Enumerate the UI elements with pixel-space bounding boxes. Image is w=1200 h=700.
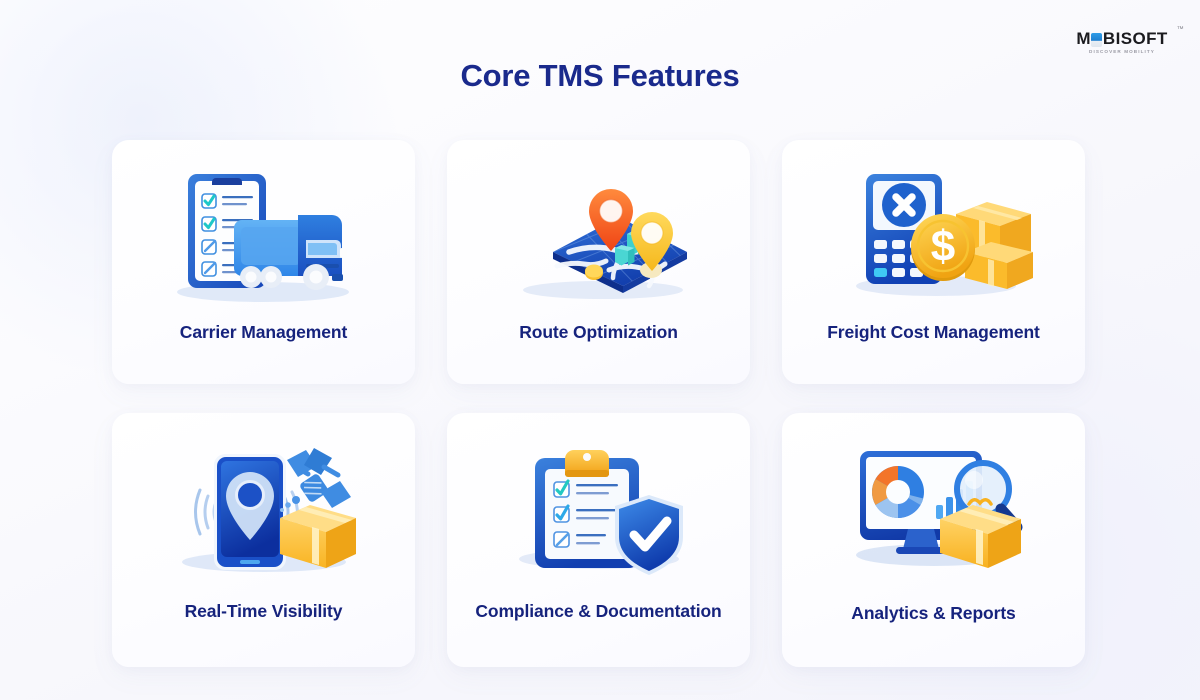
feature-card-label: Compliance & Documentation <box>475 601 721 667</box>
clipboard-shield-check-icon <box>491 434 706 589</box>
svg-text:$: $ <box>931 222 955 271</box>
trademark-icon: ™ <box>1177 26 1184 33</box>
brand-name-part2: BISOFT <box>1103 30 1168 47</box>
carrier-management-illustration <box>112 140 415 322</box>
feature-card-freight-cost-management[interactable]: $ Freight Cost Management <box>782 140 1085 384</box>
feature-card-label: Carrier Management <box>180 322 347 384</box>
feature-card-carrier-management[interactable]: Carrier Management <box>112 140 415 384</box>
feature-card-label: Analytics & Reports <box>851 603 1015 667</box>
feature-card-compliance-documentation[interactable]: Compliance & Documentation <box>447 413 750 667</box>
clipboard-truck-icon <box>156 160 371 310</box>
brand-wordmark: M BISOFT ™ <box>1066 30 1178 47</box>
feature-card-label: Real-Time Visibility <box>185 601 343 667</box>
brand-name-part1: M <box>1076 30 1091 47</box>
brand-logo: M BISOFT ™ DISCOVER MOBILITY <box>1066 30 1178 54</box>
feature-card-label: Freight Cost Management <box>827 322 1040 384</box>
feature-card-route-optimization[interactable]: Route Optimization <box>447 140 750 384</box>
analytics-reports-illustration <box>782 413 1085 603</box>
page-title: Core TMS Features <box>0 58 1200 94</box>
route-optimization-illustration <box>447 140 750 322</box>
feature-card-analytics-reports[interactable]: Analytics & Reports <box>782 413 1085 667</box>
calculator-coin-boxes-icon: $ <box>826 160 1041 310</box>
brand-tagline: DISCOVER MOBILITY <box>1066 49 1178 54</box>
freight-cost-illustration: $ <box>782 140 1085 322</box>
feature-card-real-time-visibility[interactable]: Real-Time Visibility <box>112 413 415 667</box>
monitor-charts-magnifier-icon <box>826 435 1041 590</box>
mobile-device-icon <box>1091 33 1102 47</box>
map-route-pins-icon <box>491 160 706 310</box>
feature-card-label: Route Optimization <box>519 322 678 384</box>
phone-satellite-package-icon <box>156 434 371 589</box>
compliance-documentation-illustration <box>447 413 750 601</box>
real-time-visibility-illustration <box>112 413 415 601</box>
feature-card-grid: Carrier Management <box>112 140 1088 667</box>
